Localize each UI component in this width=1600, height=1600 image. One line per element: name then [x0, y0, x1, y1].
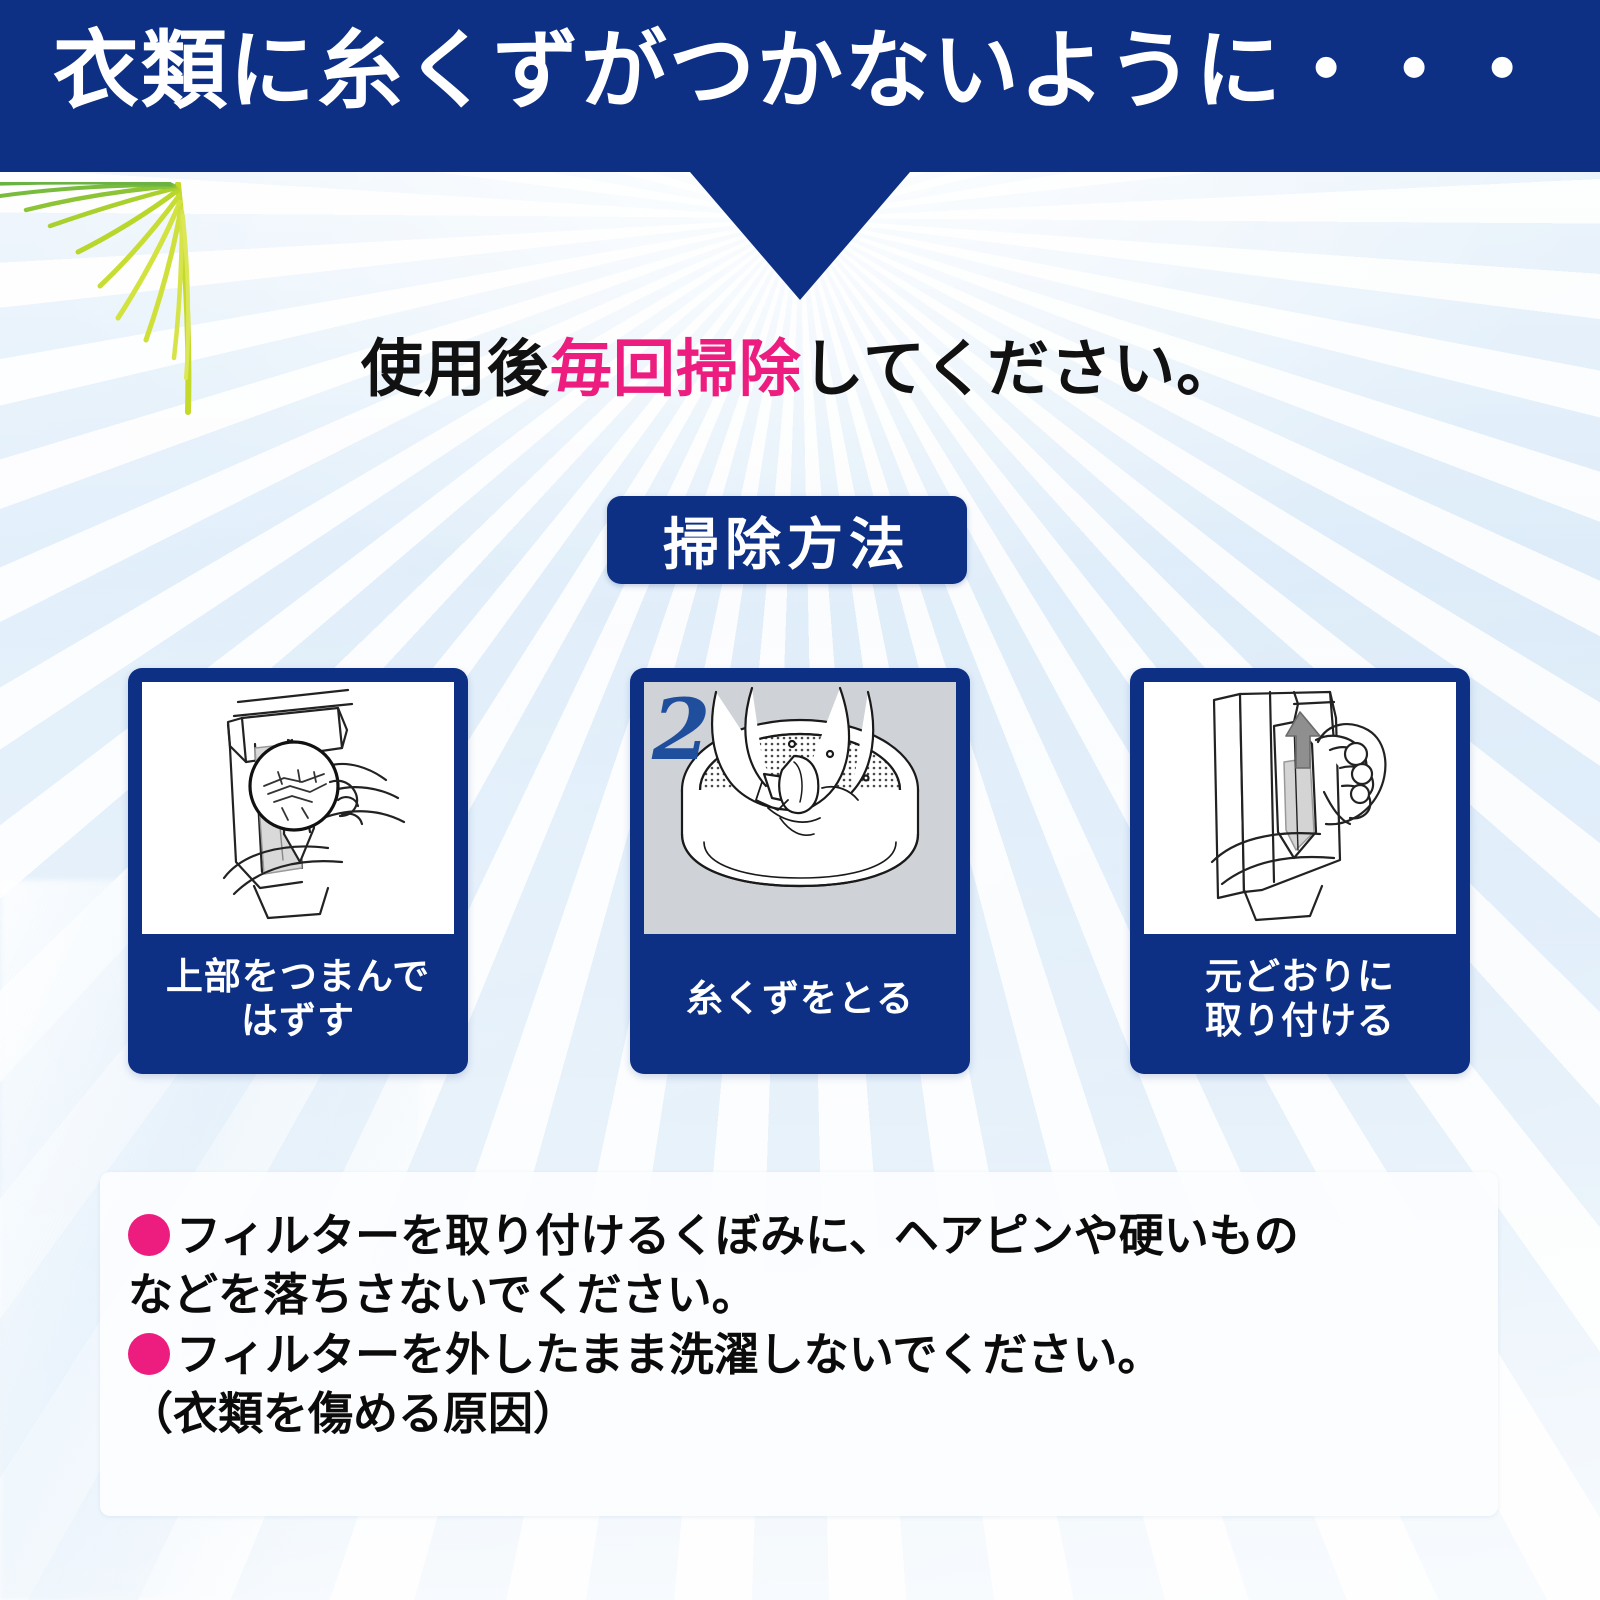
- step-1-illustration: [142, 682, 454, 934]
- subtitle-after: してください。: [802, 332, 1239, 405]
- note-1-line2: などを落ちさないでください。: [128, 1265, 1464, 1324]
- header-banner: 衣類に糸くずがつかないように・・・: [0, 0, 1600, 172]
- step-3-caption-line1: 元どおりに: [1205, 955, 1395, 998]
- note-1-line1: フィルターを取り付けるくぼみに、ヘアピンや硬いもの: [176, 1209, 1299, 1262]
- note-2-line1: フィルターを外したまま洗濯しないでください。: [176, 1328, 1162, 1381]
- step-1-caption-line2: はずす: [241, 999, 355, 1042]
- filter-pinch-top-drawing: [142, 682, 454, 934]
- step-2-caption-line1: 糸くずをとる: [686, 977, 914, 1021]
- step-card-1: 上部をつまんで はずす: [128, 668, 468, 1074]
- reattach-filter-drawing: [1144, 682, 1456, 934]
- step-2-illustration: 2: [644, 682, 956, 934]
- step-1-caption-line1: 上部をつまんで: [166, 955, 430, 998]
- bullet-icon: [128, 1214, 170, 1256]
- notes-panel: フィルターを取り付けるくぼみに、ヘアピンや硬いもの などを落ちさないでください。…: [100, 1172, 1498, 1516]
- step-card-2: 2: [630, 668, 970, 1074]
- step-3-caption: 元どおりに 取り付ける: [1144, 934, 1456, 1060]
- page-title: 衣類に糸くずがつかないように・・・: [0, 28, 1600, 114]
- method-badge: 掃除方法: [607, 496, 967, 584]
- step-2-caption: 糸くずをとる: [644, 934, 956, 1060]
- step-3-caption-line2: 取り付ける: [1205, 999, 1395, 1042]
- subtitle-before: 使用後: [361, 332, 550, 405]
- note-1-line1-wrap: フィルターを取り付けるくぼみに、ヘアピンや硬いもの: [128, 1206, 1464, 1265]
- note-item-1: フィルターを取り付けるくぼみに、ヘアピンや硬いもの などを落ちさないでください。: [128, 1206, 1464, 1325]
- subtitle: 使用後毎回掃除してください。: [0, 318, 1600, 408]
- note-2-line2: （衣類を傷める原因）: [128, 1384, 1464, 1443]
- note-item-2: フィルターを外したまま洗濯しないでください。 （衣類を傷める原因）: [128, 1325, 1464, 1444]
- step-1-caption: 上部をつまんで はずす: [142, 934, 454, 1060]
- note-2-line1-wrap: フィルターを外したまま洗濯しないでください。: [128, 1325, 1464, 1384]
- step-3-illustration: [1144, 682, 1456, 934]
- step-2-number: 2: [652, 692, 710, 768]
- step-card-row: 上部をつまんで はずす 2: [0, 668, 1600, 1078]
- step-card-3: 元どおりに 取り付ける: [1130, 668, 1470, 1074]
- promo-infographic: 衣類に糸くずがつかないように・・・ 使用後毎回掃除してください。 掃除方法: [0, 0, 1600, 1600]
- method-badge-label: 掃除方法: [663, 500, 911, 581]
- subtitle-highlight: 毎回掃除: [550, 332, 802, 405]
- bullet-icon: [128, 1333, 170, 1375]
- banner-arrow-notch: [690, 172, 910, 300]
